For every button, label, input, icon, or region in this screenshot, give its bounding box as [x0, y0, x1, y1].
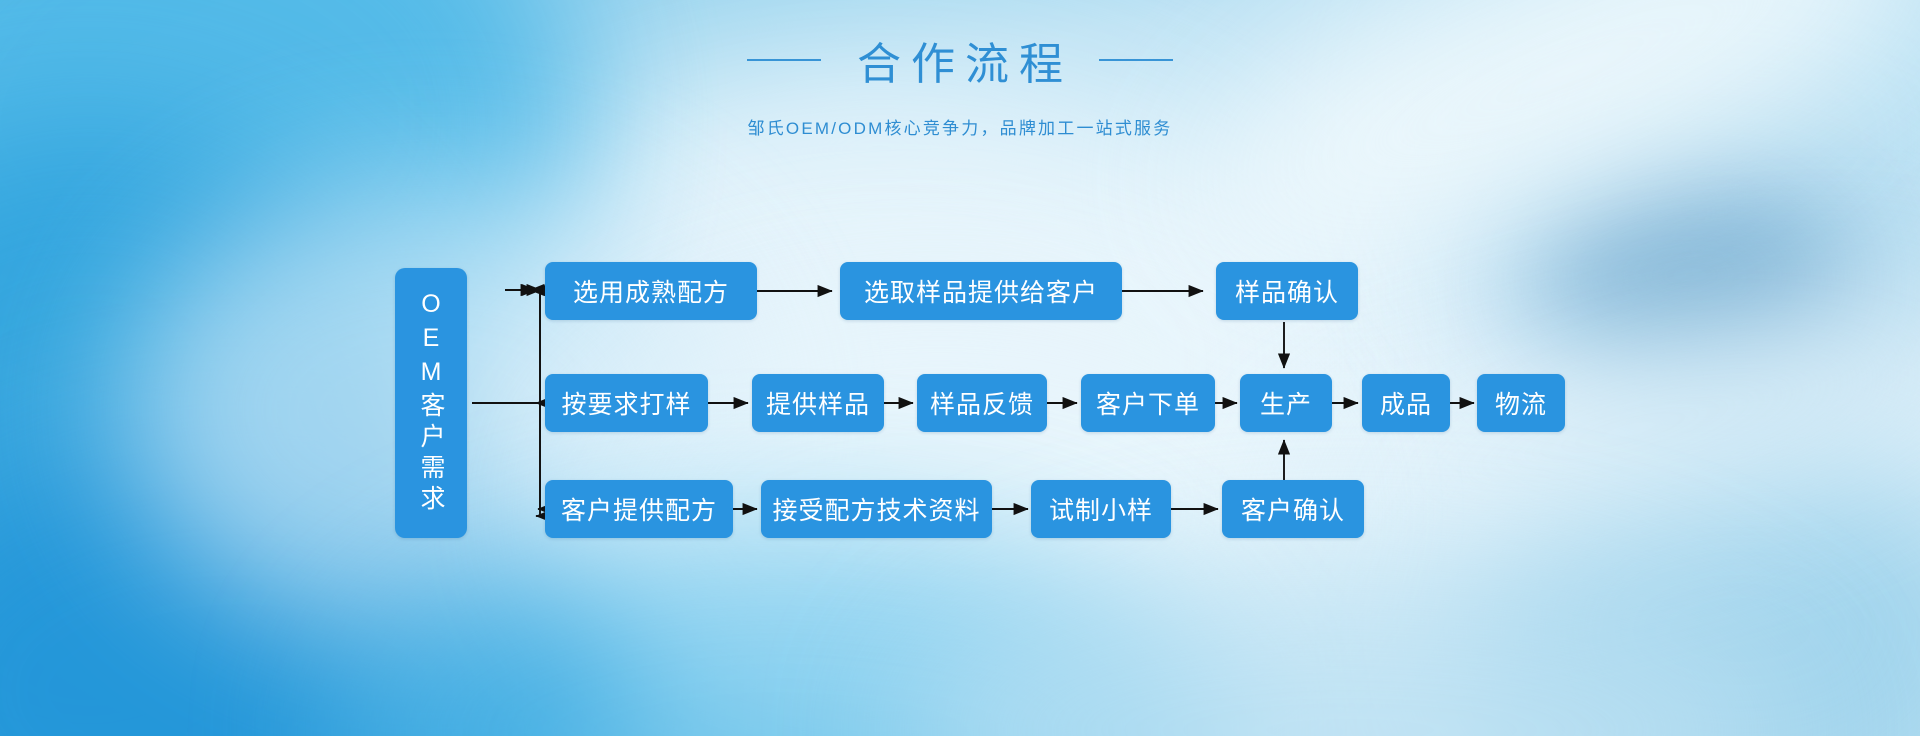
flow-node-r3-s1[interactable]: 客户提供配方	[545, 480, 733, 538]
flow-node-start[interactable]: OEM客户需求	[395, 268, 467, 538]
flow-node-r2-s1[interactable]: 按要求打样	[545, 374, 708, 432]
process-flowchart: OEM客户需求 选用成熟配方 选取样品提供给客户 样品确认 按要求打样 提供样品…	[0, 0, 1920, 736]
flow-node-r1-s2[interactable]: 选取样品提供给客户	[840, 262, 1122, 320]
flow-node-r2-s7[interactable]: 物流	[1477, 374, 1565, 432]
flow-node-r2-s2[interactable]: 提供样品	[752, 374, 884, 432]
flow-node-r3-s4[interactable]: 客户确认	[1222, 480, 1364, 538]
flow-node-r3-s2[interactable]: 接受配方技术资料	[761, 480, 992, 538]
flow-node-r1-s1[interactable]: 选用成熟配方	[545, 262, 757, 320]
flow-node-r2-s6[interactable]: 成品	[1362, 374, 1450, 432]
flow-node-r2-s4[interactable]: 客户下单	[1081, 374, 1215, 432]
flow-node-r1-s3[interactable]: 样品确认	[1216, 262, 1358, 320]
flow-node-r2-s3[interactable]: 样品反馈	[917, 374, 1047, 432]
flow-branch-arrows	[0, 0, 1920, 736]
flow-node-r3-s3[interactable]: 试制小样	[1031, 480, 1171, 538]
flow-node-r2-s5[interactable]: 生产	[1240, 374, 1332, 432]
page-root: 合作流程 邹氏OEM/ODM核心竞争力，品牌加工一站式服务	[0, 0, 1920, 736]
